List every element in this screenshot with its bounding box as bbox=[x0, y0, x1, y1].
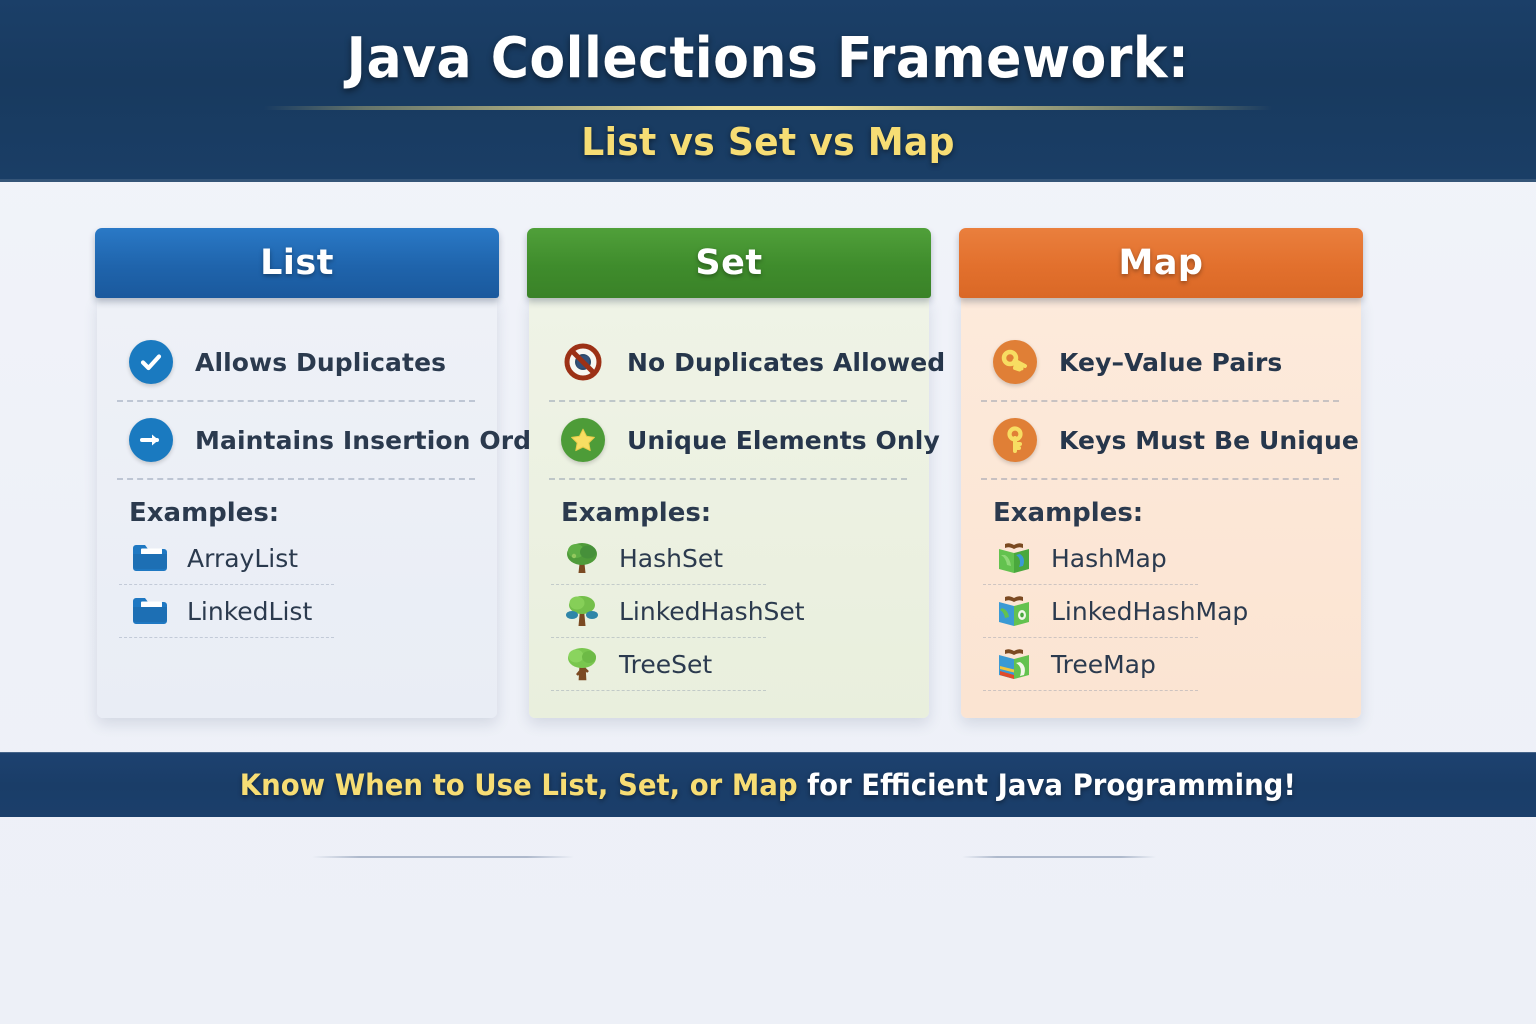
page-title: Java Collections Framework: bbox=[54, 26, 1482, 91]
footer-decorative-rule bbox=[312, 856, 574, 858]
bottom-banner: Know When to Use List, Set, or Map for E… bbox=[0, 752, 1536, 817]
feature-row: Unique Elements Only bbox=[529, 402, 929, 478]
example-row: LinkedHashMap bbox=[961, 585, 1361, 637]
folder-icon bbox=[131, 539, 169, 577]
folded-map-icon bbox=[995, 645, 1033, 683]
star-circle-icon bbox=[561, 418, 605, 462]
divider bbox=[551, 690, 766, 691]
feature-row: Keys Must Be Unique bbox=[961, 402, 1361, 478]
examples-title: Examples: bbox=[561, 498, 929, 528]
feature-row: Key–Value Pairs bbox=[961, 324, 1361, 400]
cards-container: List Allows Duplicates Maintains Inserti… bbox=[0, 182, 1536, 752]
footer-decorative-rule bbox=[962, 856, 1156, 858]
example-label: LinkedHashSet bbox=[619, 597, 805, 626]
feature-label: No Duplicates Allowed bbox=[627, 348, 945, 377]
example-label: TreeMap bbox=[1051, 650, 1156, 679]
divider bbox=[117, 478, 475, 480]
example-row: HashMap bbox=[961, 532, 1361, 584]
page-header: Java Collections Framework: List vs Set … bbox=[0, 0, 1536, 182]
example-label: ArrayList bbox=[187, 544, 298, 573]
feature-label: Allows Duplicates bbox=[195, 348, 446, 377]
example-row: ArrayList bbox=[97, 532, 497, 584]
tree-icon bbox=[563, 645, 601, 683]
card-map: Map Key–Value Pairs Keys Must Be Unique … bbox=[961, 228, 1361, 718]
example-label: HashMap bbox=[1051, 544, 1167, 573]
card-map-header: Map bbox=[959, 228, 1363, 298]
card-list-title: List bbox=[260, 243, 334, 283]
card-list-header: List bbox=[95, 228, 499, 298]
card-list: List Allows Duplicates Maintains Inserti… bbox=[97, 228, 497, 718]
example-row: TreeMap bbox=[961, 638, 1361, 690]
feature-label: Keys Must Be Unique bbox=[1059, 426, 1359, 455]
card-map-title: Map bbox=[1118, 243, 1203, 283]
example-row: HashSet bbox=[529, 532, 929, 584]
key-circle-icon bbox=[993, 418, 1037, 462]
example-label: HashSet bbox=[619, 544, 723, 573]
example-row: LinkedList bbox=[97, 585, 497, 637]
folder-icon bbox=[131, 592, 169, 630]
divider bbox=[119, 637, 334, 638]
example-label: LinkedHashMap bbox=[1051, 597, 1248, 626]
key-circle-icon bbox=[993, 340, 1037, 384]
example-label: TreeSet bbox=[619, 650, 712, 679]
folded-map-icon bbox=[995, 592, 1033, 630]
card-set: Set No Duplicates Allowed bbox=[529, 228, 929, 718]
example-row: LinkedHashSet bbox=[529, 585, 929, 637]
divider bbox=[981, 478, 1339, 480]
feature-row: Allows Duplicates bbox=[97, 324, 497, 400]
banner-accent-text: Know When to Use List, Set, or Map bbox=[240, 768, 798, 802]
divider bbox=[549, 478, 907, 480]
card-set-title: Set bbox=[695, 243, 762, 283]
folded-map-icon bbox=[995, 539, 1033, 577]
arrow-right-circle-icon bbox=[129, 418, 173, 462]
feature-label: Maintains Insertion Order bbox=[195, 426, 561, 455]
divider bbox=[983, 690, 1198, 691]
banner-rest-text: for Efficient Java Programming! bbox=[798, 768, 1296, 802]
examples-title: Examples: bbox=[129, 498, 497, 528]
example-label: LinkedList bbox=[187, 597, 312, 626]
tree-icon bbox=[563, 592, 601, 630]
example-row: TreeSet bbox=[529, 638, 929, 690]
tree-icon bbox=[563, 539, 601, 577]
feature-label: Key–Value Pairs bbox=[1059, 348, 1282, 377]
check-circle-icon bbox=[129, 340, 173, 384]
card-list-body: Allows Duplicates Maintains Insertion Or… bbox=[97, 298, 497, 718]
examples-title: Examples: bbox=[993, 498, 1361, 528]
no-entry-icon bbox=[561, 340, 605, 384]
banner-text: Know When to Use List, Set, or Map for E… bbox=[240, 768, 1296, 802]
feature-row: No Duplicates Allowed bbox=[529, 324, 929, 400]
card-set-header: Set bbox=[527, 228, 931, 298]
card-set-body: No Duplicates Allowed Unique Elements On… bbox=[529, 298, 929, 718]
title-divider bbox=[264, 106, 1272, 110]
feature-label: Unique Elements Only bbox=[627, 426, 940, 455]
card-map-body: Key–Value Pairs Keys Must Be Unique Exam… bbox=[961, 298, 1361, 718]
page-subtitle: List vs Set vs Map bbox=[38, 120, 1497, 164]
feature-row: Maintains Insertion Order bbox=[97, 402, 497, 478]
